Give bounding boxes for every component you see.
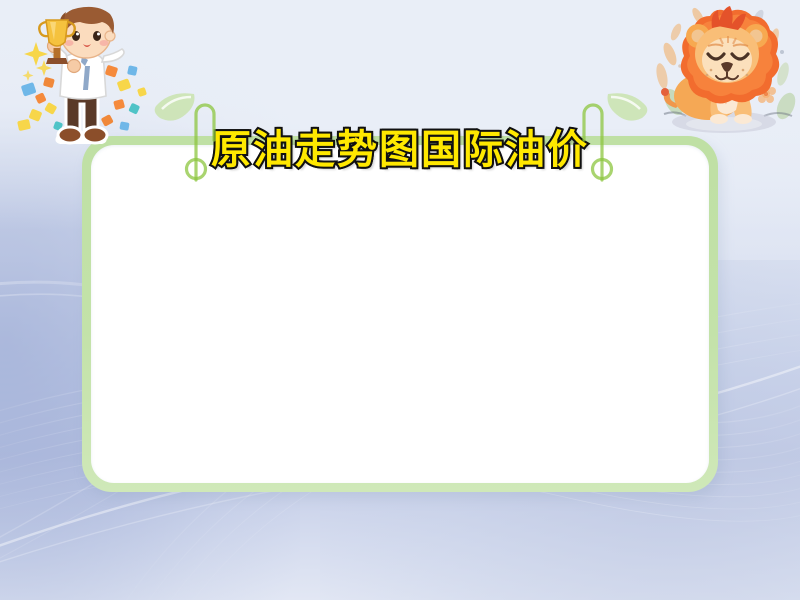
card-inner-surface <box>91 145 709 483</box>
page-title: 原油走势图国际油价 <box>211 128 589 172</box>
title-area: 原油走势图国际油价 <box>0 128 800 172</box>
presentation-slide: 原油走势图国际油价 <box>0 0 800 600</box>
content-card <box>82 136 718 492</box>
